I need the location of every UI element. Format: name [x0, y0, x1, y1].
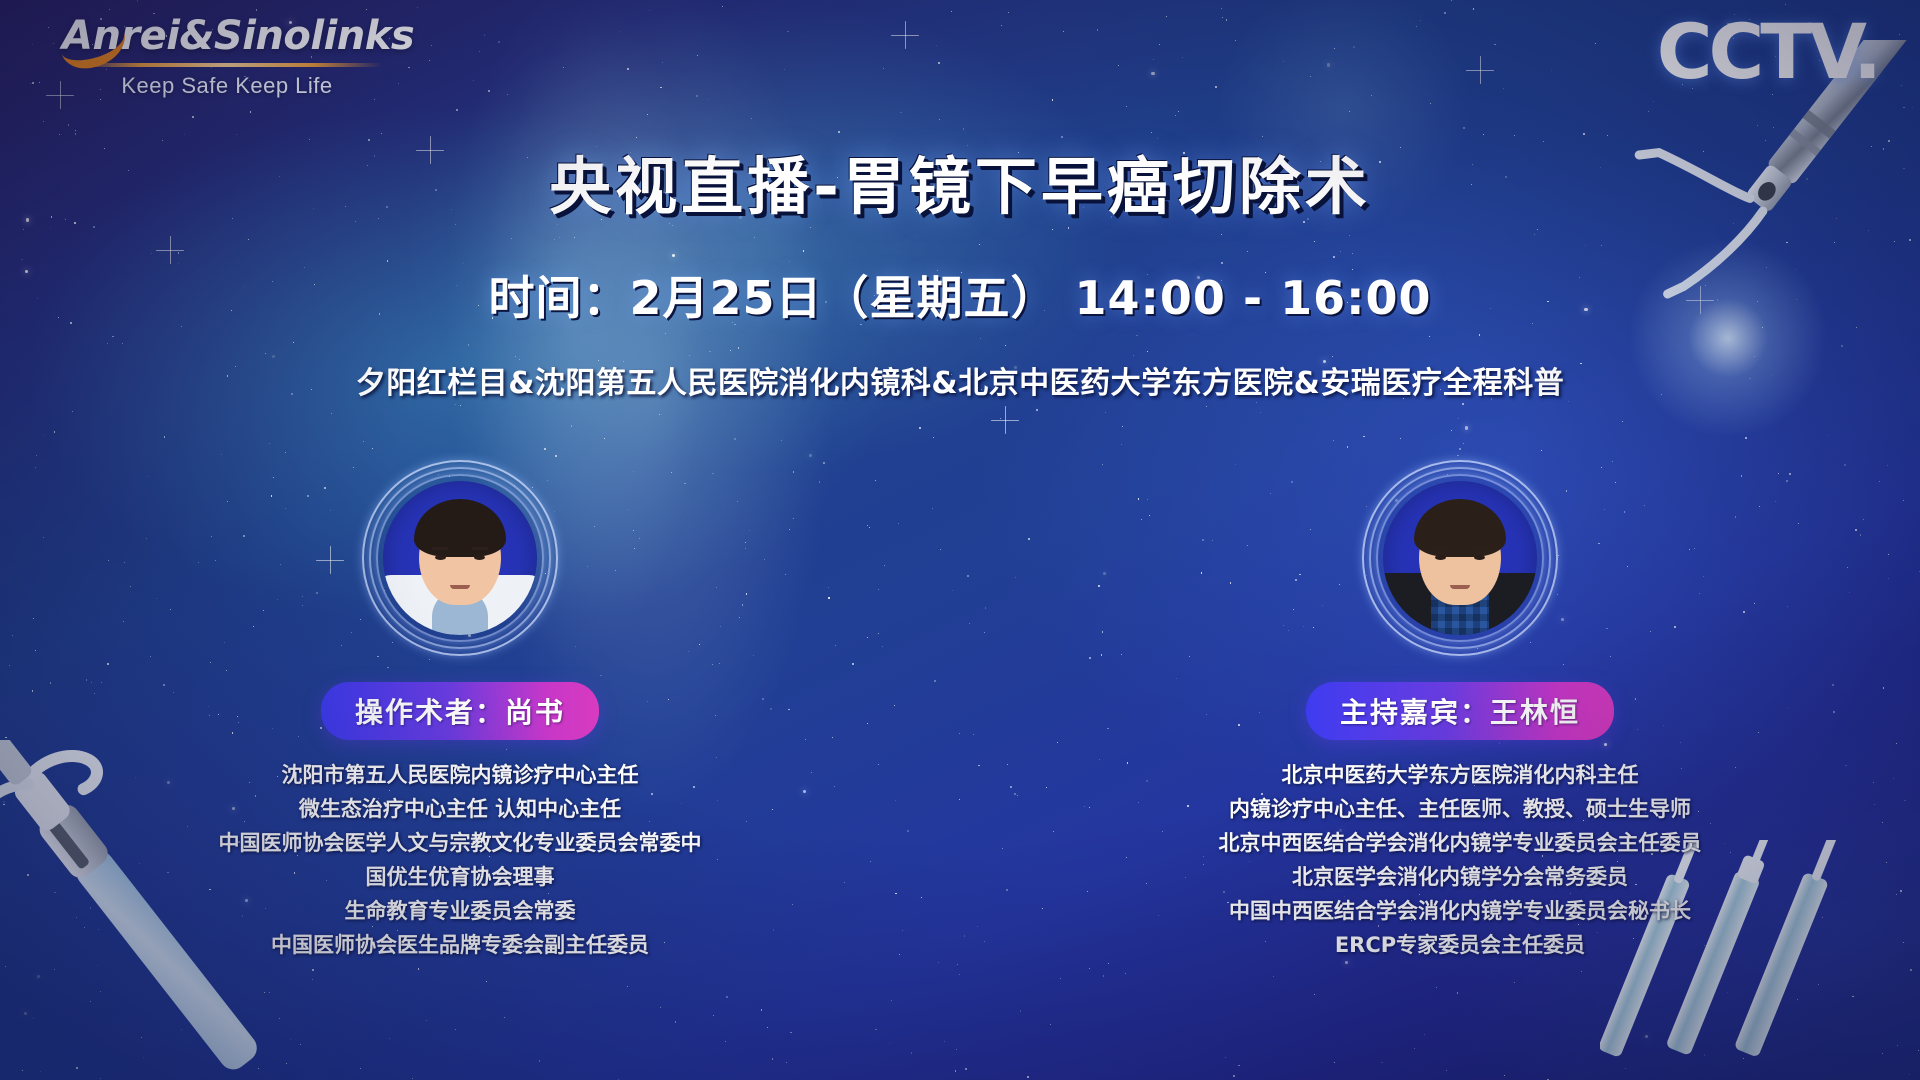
credential-line: 生命教育专业委员会常委: [219, 894, 702, 928]
broadcast-time: 时间：2月25日（星期五） 14:00 - 16:00: [0, 262, 1920, 328]
credential-line: 微生态治疗中心主任 认知中心主任: [219, 792, 702, 826]
avatar: [1362, 460, 1558, 656]
credential-line: 国优生优育协会理事: [219, 860, 702, 894]
credential-line: 中国中西医结合学会消化内镜学专业委员会秘书长: [1219, 894, 1702, 928]
credential-line: 沈阳市第五人民医院内镜诊疗中心主任: [219, 758, 702, 792]
avatar: [362, 460, 558, 656]
brand-tagline: Keep Safe Keep Life: [62, 73, 392, 99]
avatar-photo-host: [1383, 481, 1537, 635]
organizations-line: 夕阳红栏目&沈阳第五人民医院消化内镜科&北京中医药大学东方医院&安瑞医疗全程科普: [0, 358, 1920, 402]
speaker-badge-host: 主持嘉宾：王林恒: [1306, 682, 1614, 740]
speaker-credentials-operator: 沈阳市第五人民医院内镜诊疗中心主任 微生态治疗中心主任 认知中心主任 中国医师协…: [219, 758, 702, 962]
credential-line: 中国医师协会医生品牌专委会副主任委员: [219, 928, 702, 962]
page-title: 央视直播-胃镜下早癌切除术: [0, 136, 1920, 226]
speaker-badge-operator: 操作术者：尚书: [321, 682, 599, 740]
speaker-credentials-host: 北京中医药大学东方医院消化内科主任 内镜诊疗中心主任、主任医师、教授、硕士生导师…: [1219, 758, 1702, 962]
brand-logo: Anrei&Sinolinks Keep Safe Keep Life: [62, 16, 392, 99]
credential-line: 北京中医药大学东方医院消化内科主任: [1219, 758, 1702, 792]
live-broadcast-poster: Anrei&Sinolinks Keep Safe Keep Life CCTV…: [0, 0, 1920, 1080]
credential-line: ERCP专家委员会主任委员: [1219, 928, 1702, 962]
avatar-photo-operator: [383, 481, 537, 635]
credential-line: 北京医学会消化内镜学分会常务委员: [1219, 860, 1702, 894]
credential-line: 北京中西医结合学会消化内镜学专业委员会主任委员: [1219, 826, 1702, 860]
speakers-section: 操作术者：尚书 沈阳市第五人民医院内镜诊疗中心主任 微生态治疗中心主任 认知中心…: [0, 460, 1920, 962]
speaker-card-host: 主持嘉宾：王林恒 北京中医药大学东方医院消化内科主任 内镜诊疗中心主任、主任医师…: [1225, 460, 1695, 962]
cctv-logo: CCTV.: [1657, 14, 1878, 90]
credential-line: 内镜诊疗中心主任、主任医师、教授、硕士生导师: [1219, 792, 1702, 826]
speaker-card-operator: 操作术者：尚书 沈阳市第五人民医院内镜诊疗中心主任 微生态治疗中心主任 认知中心…: [225, 460, 695, 962]
brand-divider: [72, 63, 382, 67]
credential-line: 中国医师协会医学人文与宗教文化专业委员会常委中: [219, 826, 702, 860]
